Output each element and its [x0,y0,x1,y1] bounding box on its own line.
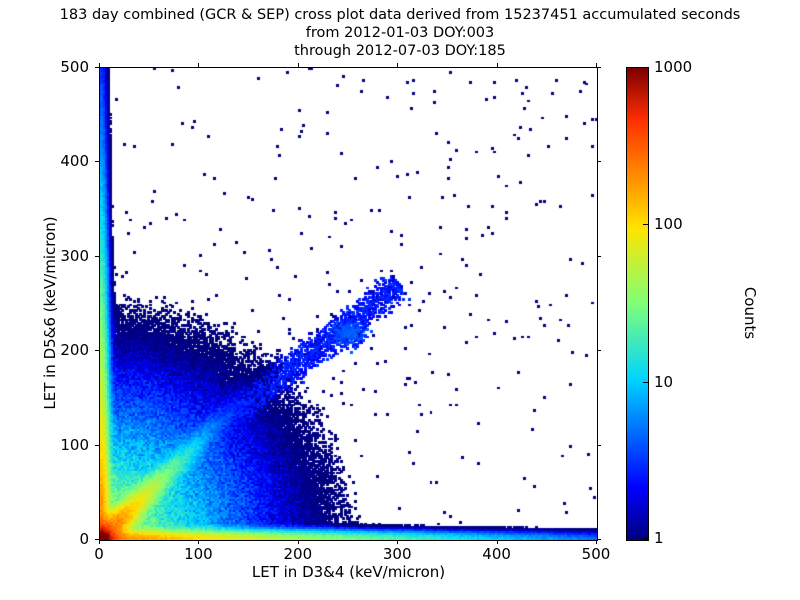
colorbar-gradient [627,68,648,540]
x-tick-top-200 [298,63,299,67]
y-tick-right-500 [597,67,601,68]
plot-area[interactable] [99,67,598,541]
y-tick-300 [95,256,99,257]
colorbar-label: Counts [741,163,759,463]
x-tick-0 [99,540,100,544]
colorbar-tick-label-1: 1 [654,529,664,547]
x-tick-label-500: 500 [582,545,611,563]
y-tick-200 [95,350,99,351]
x-tick-200 [298,540,299,544]
title-line-1: 183 day combined (GCR & SEP) cross plot … [0,6,800,24]
x-tick-top-0 [99,63,100,67]
figure-title: 183 day combined (GCR & SEP) cross plot … [0,6,800,60]
x-tick-label-300: 300 [383,545,412,563]
y-tick-label-0: 0 [23,530,89,548]
x-tick-label-200: 200 [283,545,312,563]
x-tick-label-400: 400 [482,545,511,563]
y-tick-right-100 [597,445,601,446]
colorbar-tick-100 [643,224,648,225]
x-axis-label: LET in D3&4 (keV/micron) [99,563,598,581]
colorbar-tick-label-10: 10 [654,373,673,391]
y-tick-100 [95,445,99,446]
colorbar-tick-1 [643,538,648,539]
colorbar-tick-10 [643,382,648,383]
y-tick-0 [95,539,99,540]
y-tick-right-400 [597,161,601,162]
colorbar[interactable] [626,67,649,541]
x-tick-100 [198,540,199,544]
x-tick-500 [596,540,597,544]
x-tick-300 [397,540,398,544]
y-tick-right-300 [597,256,601,257]
y-tick-400 [95,161,99,162]
density-heatmap [100,68,597,540]
x-tick-label-100: 100 [184,545,213,563]
y-axis-label: LET in D5&6 (keV/micron) [41,163,59,463]
x-tick-top-400 [497,63,498,67]
colorbar-tick-label-100: 100 [654,215,683,233]
y-tick-label-500: 500 [23,58,89,76]
colorbar-tick-1000 [643,67,648,68]
x-tick-top-300 [397,63,398,67]
x-tick-label-0: 0 [94,545,104,563]
title-line-2: from 2012-01-03 DOY:003 [0,24,800,42]
y-tick-500 [95,67,99,68]
y-tick-right-0 [597,539,601,540]
x-tick-400 [497,540,498,544]
colorbar-tick-label-1000: 1000 [654,58,692,76]
figure-canvas: 183 day combined (GCR & SEP) cross plot … [0,0,800,600]
y-tick-right-200 [597,350,601,351]
x-tick-top-100 [198,63,199,67]
